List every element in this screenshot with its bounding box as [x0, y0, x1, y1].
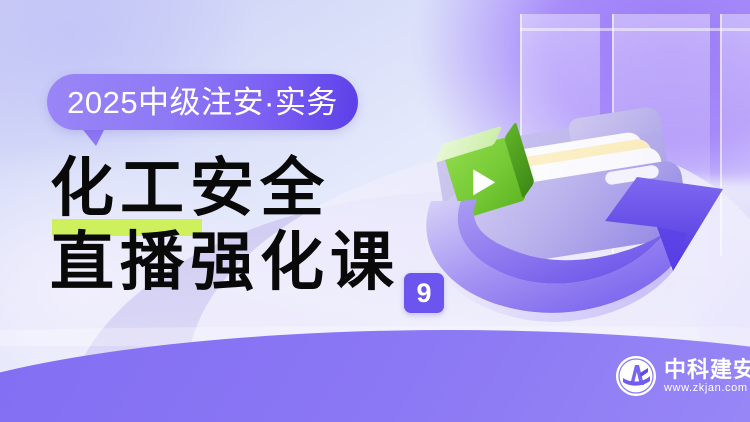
brand-logo: 中科建安 www.zkjan.com	[616, 356, 750, 396]
course-category-label: 2025中级注安·实务	[67, 87, 338, 118]
course-poster: 2025中级注安·实务 化工安全 直播强化课 9 中科建安 www.zkjan.…	[0, 0, 750, 422]
course-category-pill: 2025中级注安·实务	[47, 74, 358, 130]
episode-number-label: 9	[416, 280, 431, 307]
brand-url: www.zkjan.com	[664, 383, 750, 394]
brand-logo-text: 中科建安 www.zkjan.com	[664, 359, 750, 394]
brand-name: 中科建安	[664, 359, 750, 381]
zkjan-circle-mark-icon	[616, 356, 656, 396]
headline-line-1: 化工安全	[50, 152, 470, 226]
episode-number-badge: 9	[404, 273, 444, 313]
